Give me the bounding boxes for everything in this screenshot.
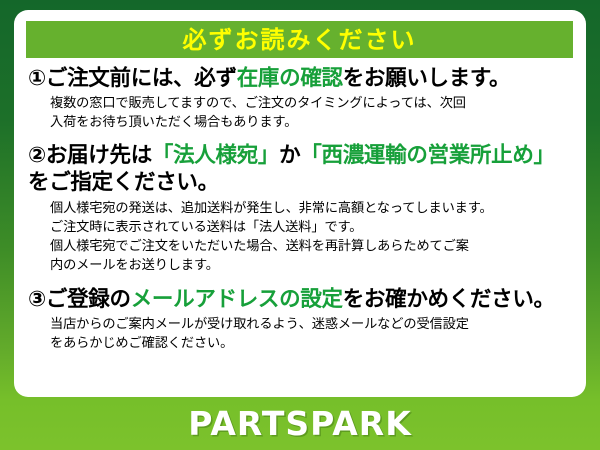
notice-list: ①ご注文前には、必ず在庫の確認をお願いします。 複数の窓口で販売してますので、ご…: [14, 65, 586, 355]
notice-item-2-heading-part-4: をご指定ください。: [28, 170, 219, 195]
notice-item-1: ①ご注文前には、必ず在庫の確認をお願いします。 複数の窓口で販売してますので、ご…: [28, 65, 573, 132]
notice-item-2-heading-part-3: 「西濃運輸の営業所止め」: [300, 143, 554, 168]
notice-item-2-description-line-2: 個人様宅宛でご注文をいただいた場合、送料を再計算しあらためてご案: [50, 237, 573, 256]
notice-item-1-heading-part-0: ①ご注文前には、必ず: [28, 66, 237, 91]
notice-item-1-heading-part-1: 在庫の確認: [237, 66, 343, 91]
notice-item-2-description-line-0: 個人様宅宛の発送は、追加送料が発生し、非常に高額となってしまいます。: [50, 199, 573, 218]
title-banner: 必ずお読みください: [26, 21, 573, 58]
notice-card: 必ずお読みください ①ご注文前には、必ず在庫の確認をお願いします。 複数の窓口で…: [14, 10, 586, 397]
notice-item-1-heading-part-2: をお願いします。: [343, 66, 510, 91]
notice-item-2-description: 個人様宅宛の発送は、追加送料が発生し、非常に高額となってしまいます。ご注文時に表…: [28, 197, 573, 276]
notice-item-3-description: 当店からのご案内メールが受け取れるよう、迷惑メールなどの受信設定をあらかじめご確…: [28, 313, 573, 353]
notice-item-1-description-line-1: 入荷をお待ち頂いただく場合もあります。: [50, 113, 573, 132]
notice-item-3-description-line-1: をあらかじめご確認ください。: [50, 334, 573, 353]
notice-item-2-description-line-3: 内のメールをお送りします。: [50, 256, 573, 275]
notice-item-3-heading-part-2: をお確かめください。: [343, 287, 555, 312]
notice-item-3-heading-part-1: メールアドレスの設定: [131, 287, 343, 312]
notice-item-3: ③ご登録のメールアドレスの設定をお確かめください。 当店からのご案内メールが受け…: [28, 286, 573, 353]
notice-item-2-description-line-1: ご注文時に表示されている送料は「法人送料」です。: [50, 218, 573, 237]
brand-footer: PARTSPARK: [0, 397, 600, 450]
notice-item-1-description-line-0: 複数の窓口で販売してますので、ご注文のタイミングによっては、次回: [50, 94, 573, 113]
brand-name: PARTSPARK: [188, 407, 412, 440]
notice-item-2-heading-part-2: か: [279, 143, 300, 168]
notice-item-3-description-line-0: 当店からのご案内メールが受け取れるよう、迷惑メールなどの受信設定: [50, 315, 573, 334]
notice-item-2: ②お届け先は「法人様宛」か「西濃運輸の営業所止め」をご指定ください。 個人様宅宛…: [28, 142, 573, 275]
notice-item-2-heading-part-0: ②お届け先は: [28, 143, 152, 168]
title-banner-text: 必ずお読みください: [183, 28, 417, 52]
notice-item-2-heading: ②お届け先は「法人様宛」か「西濃運輸の営業所止め」をご指定ください。: [28, 142, 573, 196]
notice-item-1-heading: ①ご注文前には、必ず在庫の確認をお願いします。: [28, 65, 573, 92]
notice-item-2-heading-part-1: 「法人様宛」: [152, 143, 279, 168]
notice-item-3-heading-part-0: ③ご登録の: [28, 287, 131, 312]
notice-item-1-description: 複数の窓口で販売してますので、ご注文のタイミングによっては、次回入荷をお待ち頂い…: [28, 92, 573, 132]
notice-item-3-heading: ③ご登録のメールアドレスの設定をお確かめください。: [28, 286, 573, 313]
notice-frame: 必ずお読みください ①ご注文前には、必ず在庫の確認をお願いします。 複数の窓口で…: [0, 0, 600, 450]
